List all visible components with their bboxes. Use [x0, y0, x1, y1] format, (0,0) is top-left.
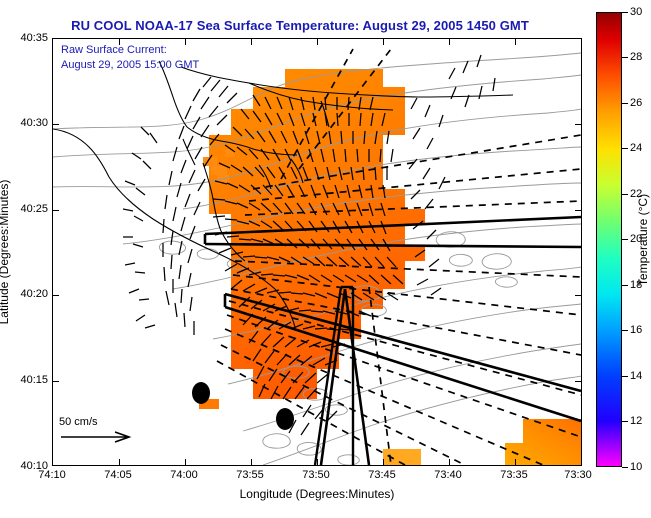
sst-raster-patch	[378, 444, 428, 465]
x-tick	[185, 459, 186, 465]
radar-station-marker	[192, 382, 210, 404]
y-tick	[53, 210, 59, 211]
x-tick-top	[119, 39, 120, 45]
y-tick-right	[575, 295, 581, 296]
x-tick-top	[317, 39, 318, 45]
y-tick-label: 40:30	[20, 117, 48, 129]
y-tick-label: 40:10	[20, 460, 48, 472]
x-axis-label: Longitude (Degrees:Minutes)	[52, 487, 582, 501]
y-tick-label: 40:25	[20, 203, 48, 215]
scale-reference-arrow	[59, 430, 139, 444]
x-tick-label: 73:50	[302, 469, 330, 481]
x-tick-top	[449, 39, 450, 45]
colorbar-tick-label: 26	[630, 97, 642, 109]
x-tick	[251, 459, 252, 465]
sst-map-figure: RU COOL NOAA-17 Sea Surface Temperature:…	[0, 0, 651, 518]
colorbar-title: Temperature (°C)	[636, 194, 650, 286]
x-tick-label: 73:35	[500, 469, 528, 481]
x-tick-top	[383, 39, 384, 45]
x-tick	[515, 459, 516, 465]
map-inner: Raw Surface Current: August 29, 2005 15:…	[53, 39, 581, 465]
current-annotation-line1: Raw Surface Current:	[61, 44, 167, 56]
y-tick-right	[575, 381, 581, 382]
y-tick	[53, 124, 59, 125]
colorbar-tick-label: 10	[630, 461, 642, 473]
y-axis-label: Latitude (Degrees:Minutes)	[0, 180, 11, 325]
x-tick-label: 73:55	[236, 469, 264, 481]
x-tick-label: 73:40	[434, 469, 462, 481]
current-annotation-line2: August 29, 2005 15:00 GMT	[61, 59, 199, 71]
y-tick-label: 40:20	[20, 288, 48, 300]
y-tick	[53, 381, 59, 382]
figure-title: RU COOL NOAA-17 Sea Surface Temperature:…	[0, 18, 600, 33]
current-annotation: Raw Surface Current: August 29, 2005 15:…	[61, 43, 199, 73]
x-tick-top	[185, 39, 186, 45]
y-tick	[53, 295, 59, 296]
y-tick-right	[575, 124, 581, 125]
y-tick-label: 40:15	[20, 374, 48, 386]
x-tick-top	[251, 39, 252, 45]
x-tick-label: 73:30	[564, 469, 592, 481]
scale-reference-label: 50 cm/s	[59, 416, 139, 428]
x-tick	[383, 459, 384, 465]
scale-reference: 50 cm/s	[59, 416, 139, 447]
colorbar[interactable]	[596, 12, 622, 467]
x-tick-label: 73:45	[368, 469, 396, 481]
x-tick	[119, 459, 120, 465]
x-tick-label: 74:05	[104, 469, 132, 481]
x-tick-label: 74:00	[170, 469, 198, 481]
x-tick-top	[515, 39, 516, 45]
map-graphics	[53, 39, 581, 465]
y-tick-label: 40:35	[20, 32, 48, 44]
colorbar-tick-label: 28	[630, 51, 642, 63]
colorbar-tick-label: 16	[630, 324, 642, 336]
radar-station-marker	[276, 408, 294, 430]
x-tick	[449, 459, 450, 465]
map-plot-area[interactable]: Raw Surface Current: August 29, 2005 15:…	[52, 38, 582, 466]
x-tick	[317, 459, 318, 465]
colorbar-tick-label: 24	[630, 142, 642, 154]
colorbar-tick-label: 30	[630, 6, 642, 18]
colorbar-tick-label: 12	[630, 415, 642, 427]
colorbar-tick-label: 14	[630, 370, 642, 382]
y-tick-right	[575, 210, 581, 211]
